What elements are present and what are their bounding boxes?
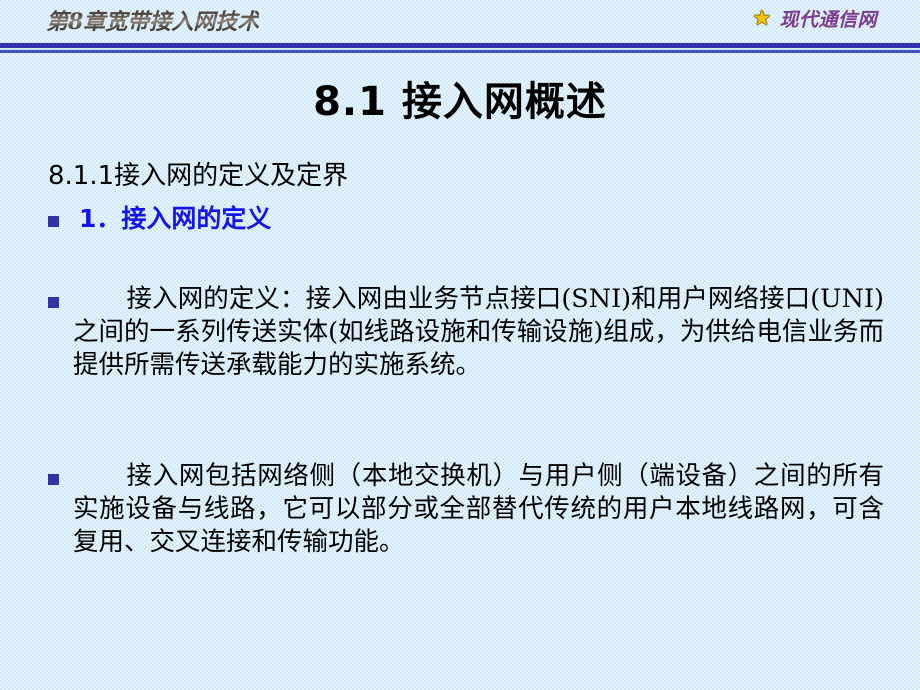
page-title: 8.1 接入网概述	[0, 69, 920, 127]
slide-header: 第8章宽带接入网技术 ★ 现代通信网	[0, 0, 920, 44]
square-bullet-icon	[48, 474, 59, 485]
paragraph-text: 接入网包括网络侧（本地交换机）与用户侧（端设备）之间的所有实施设备与线路，它可以…	[73, 460, 884, 559]
chapter-title: 第8章宽带接入网技术	[46, 4, 259, 36]
brand-name: 现代通信网	[779, 5, 877, 32]
square-bullet-icon	[48, 297, 59, 308]
square-bullet-icon	[48, 216, 59, 227]
brand-logo: ★ 现代通信网	[752, 5, 877, 32]
numbered-heading-row: 1．接入网的定义	[48, 205, 808, 234]
header-divider-thin	[0, 50, 920, 53]
definition-paragraph-1: 接入网的定义：接入网由业务节点接口(SNI)和用户网络接口(UNI)之间的一系列…	[48, 283, 884, 382]
paragraph-text: 接入网的定义：接入网由业务节点接口(SNI)和用户网络接口(UNI)之间的一系列…	[73, 283, 884, 382]
definition-paragraph-2: 接入网包括网络侧（本地交换机）与用户侧（端设备）之间的所有实施设备与线路，它可以…	[48, 460, 884, 559]
slide-canvas: 第8章宽带接入网技术 ★ 现代通信网 8.1 接入网概述 8.1.1接入网的定义…	[0, 0, 920, 690]
numbered-heading-label: 1．接入网的定义	[79, 205, 271, 234]
star-icon: ★	[752, 9, 772, 29]
section-subheading: 8.1.1接入网的定义及定界	[48, 155, 348, 192]
